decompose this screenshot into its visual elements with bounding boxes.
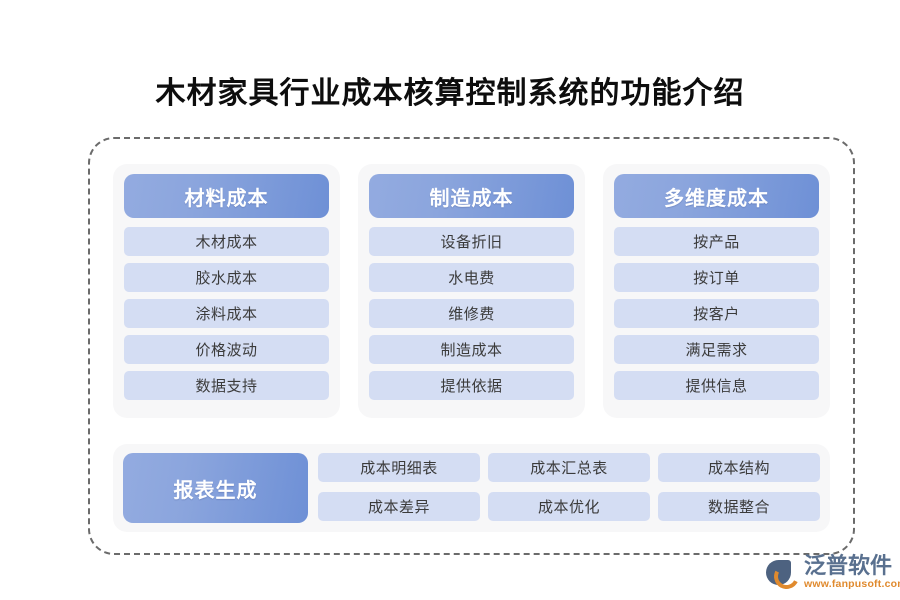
list-item[interactable]: 成本差异 [318, 492, 480, 521]
column-items-material-cost: 木材成本 胶水成本 涂料成本 价格波动 数据支持 [124, 227, 329, 407]
infographic-page: 木材家具行业成本核算控制系统的功能介绍 泛普软件 FANPU SOFTWARE … [0, 0, 900, 600]
list-item[interactable]: 数据整合 [658, 492, 820, 521]
brand-logo: 泛普软件 www.fanpusoft.com [766, 550, 894, 594]
report-header: 报表生成 [123, 453, 308, 523]
list-item[interactable]: 价格波动 [124, 335, 329, 364]
list-item[interactable]: 成本结构 [658, 453, 820, 482]
brand-text: 泛普软件 www.fanpusoft.com [804, 555, 900, 590]
column-card-multidimensional-cost: 多维度成本 按产品 按订单 按客户 满足需求 提供信息 [603, 164, 830, 418]
list-item[interactable]: 维修费 [369, 299, 574, 328]
column-items-multidimensional-cost: 按产品 按订单 按客户 满足需求 提供信息 [614, 227, 819, 407]
list-item[interactable]: 提供依据 [369, 371, 574, 400]
brand-website-url: www.fanpusoft.com [804, 579, 900, 590]
column-header-manufacturing-cost: 制造成本 [369, 174, 574, 218]
report-generation-card: 报表生成 成本明细表 成本汇总表 成本结构 成本差异 成本优化 数据整合 [113, 444, 830, 532]
report-items-grid: 成本明细表 成本汇总表 成本结构 成本差异 成本优化 数据整合 [318, 453, 820, 523]
list-item[interactable]: 木材成本 [124, 227, 329, 256]
list-item[interactable]: 设备折旧 [369, 227, 574, 256]
column-card-material-cost: 材料成本 木材成本 胶水成本 涂料成本 价格波动 数据支持 [113, 164, 340, 418]
fanpu-logo-icon [766, 557, 798, 587]
list-item[interactable]: 按产品 [614, 227, 819, 256]
list-item[interactable]: 提供信息 [614, 371, 819, 400]
page-title: 木材家具行业成本核算控制系统的功能介绍 [0, 68, 900, 112]
list-item[interactable]: 成本汇总表 [488, 453, 650, 482]
brand-name-cn: 泛普软件 [804, 555, 900, 577]
column-header-material-cost: 材料成本 [124, 174, 329, 218]
cost-category-columns: 材料成本 木材成本 胶水成本 涂料成本 价格波动 数据支持 制造成本 设备折旧 … [113, 164, 830, 418]
list-item[interactable]: 满足需求 [614, 335, 819, 364]
column-header-multidimensional-cost: 多维度成本 [614, 174, 819, 218]
list-item[interactable]: 成本优化 [488, 492, 650, 521]
list-item[interactable]: 数据支持 [124, 371, 329, 400]
list-item[interactable]: 涂料成本 [124, 299, 329, 328]
list-item[interactable]: 成本明细表 [318, 453, 480, 482]
list-item[interactable]: 制造成本 [369, 335, 574, 364]
list-item[interactable]: 胶水成本 [124, 263, 329, 292]
list-item[interactable]: 按订单 [614, 263, 819, 292]
column-card-manufacturing-cost: 制造成本 设备折旧 水电费 维修费 制造成本 提供依据 [358, 164, 585, 418]
column-items-manufacturing-cost: 设备折旧 水电费 维修费 制造成本 提供依据 [369, 227, 574, 407]
list-item[interactable]: 按客户 [614, 299, 819, 328]
list-item[interactable]: 水电费 [369, 263, 574, 292]
